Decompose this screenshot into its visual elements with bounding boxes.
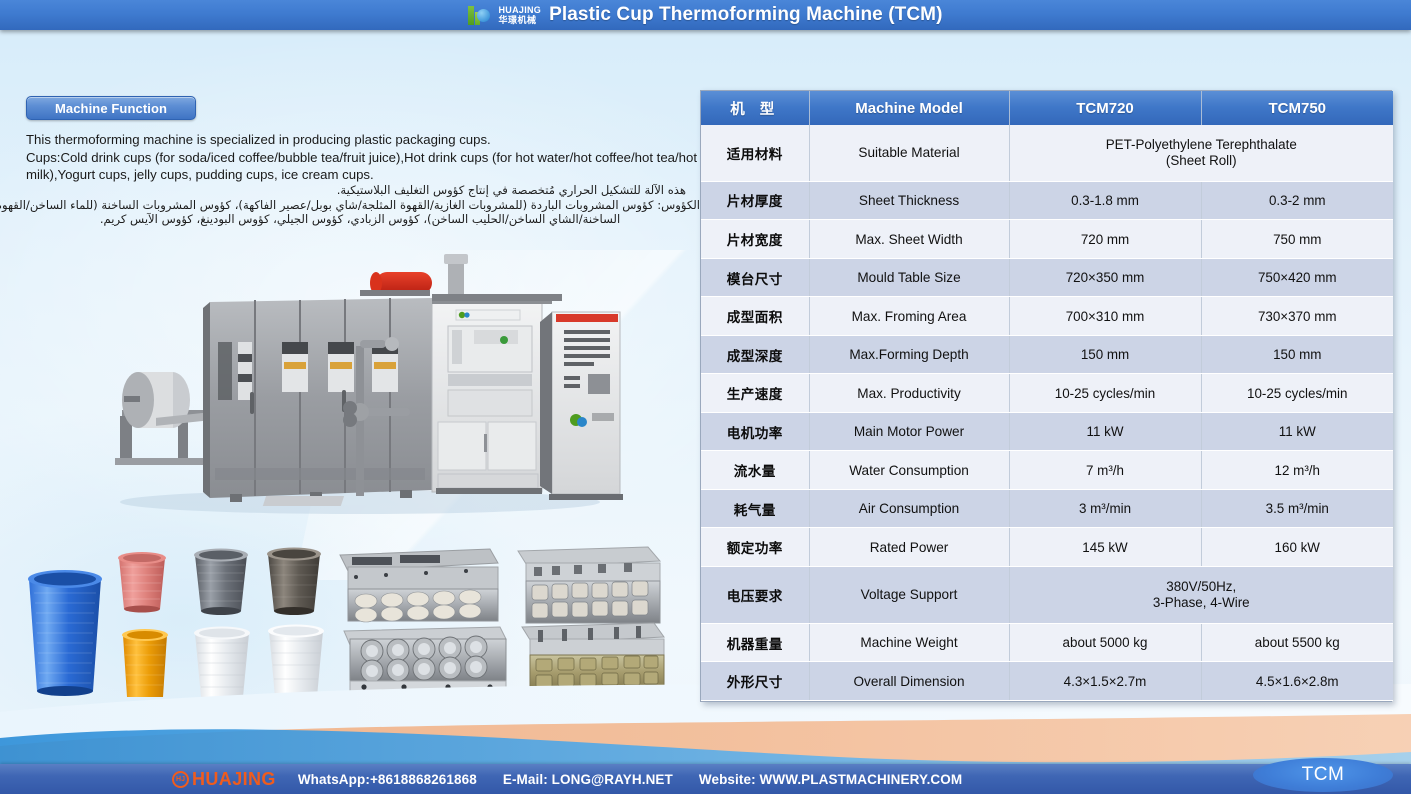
row-label-en: Max.Forming Depth [809, 335, 1009, 374]
header-content: HUAJING 华璟机械 Plastic Cup Thermoforming M… [468, 4, 942, 26]
cup-white-a [194, 627, 250, 698]
row-label-cn: 模台尺寸 [701, 258, 809, 297]
row-value-tcm720: about 5000 kg [1009, 623, 1201, 662]
specification-table: 机 型 Machine Model TCM720 TCM750 适用材料 Sui… [701, 91, 1393, 701]
row-value-tcm750: 4.5×1.6×2.8m [1201, 662, 1393, 701]
footer-brand-name: HUAJING [192, 769, 276, 790]
description-english: This thermoforming machine is specialize… [26, 131, 698, 184]
row-label-en: Voltage Support [809, 566, 1009, 623]
row-label-en: Overall Dimension [809, 662, 1009, 701]
description-arabic-line-3: الساخنة/الشاي الساخن/الحليب الساخن)، كؤو… [20, 212, 700, 227]
tcm-tag-label: TCM [1302, 764, 1345, 786]
brand-name-cn: 华璟机械 [498, 16, 541, 25]
row-label-en: Rated Power [809, 528, 1009, 567]
row-value-merged: PET-Polyethylene Terephthalate (Sheet Ro… [1009, 125, 1393, 181]
row-label-cn: 流水量 [701, 451, 809, 490]
row-label-en: Air Consumption [809, 489, 1009, 528]
row-label-cn: 成型面积 [701, 297, 809, 336]
row-value-tcm720: 720 mm [1009, 220, 1201, 259]
tcm-model-tag: TCM [1253, 758, 1393, 792]
row-value-tcm720: 0.3-1.8 mm [1009, 181, 1201, 220]
table-row: 流水量 Water Consumption 7 m³/h 12 m³/h [701, 451, 1393, 490]
header-model-cn: 机 型 [701, 91, 809, 125]
mould-top-right [518, 547, 660, 623]
row-label-cn: 片材宽度 [701, 220, 809, 259]
description-arabic-line-2: الكؤوس: كؤوس المشروبات الباردة (للمشروبا… [20, 198, 700, 213]
row-label-cn: 生产速度 [701, 374, 809, 413]
row-value-tcm720: 145 kW [1009, 528, 1201, 567]
row-value-merged: 380V/50Hz, 3-Phase, 4-Wire [1009, 566, 1393, 623]
mould-bottom-left [344, 627, 506, 693]
table-row: 机器重量 Machine Weight about 5000 kg about … [701, 623, 1393, 662]
page-header: HUAJING 华璟机械 Plastic Cup Thermoforming M… [0, 0, 1411, 30]
footer-contact-list: WhatsApp:+8618868261868 E-Mail: LONG@RAY… [298, 772, 962, 787]
slide-root: HUAJING 华璟机械 Plastic Cup Thermoforming M… [0, 0, 1411, 794]
row-label-cn: 额定功率 [701, 528, 809, 567]
row-label-cn: 外形尺寸 [701, 662, 809, 701]
row-label-cn: 片材厚度 [701, 181, 809, 220]
control-cabinet [540, 312, 623, 500]
mould-product-photos [330, 545, 675, 700]
table-body: 适用材料 Suitable Material PET-Polyethylene … [701, 125, 1393, 701]
row-value-tcm750: 3.5 m³/min [1201, 489, 1393, 528]
cup-white-b [268, 625, 324, 698]
machine-function-badge: Machine Function [26, 96, 196, 120]
row-value-tcm720: 720×350 mm [1009, 258, 1201, 297]
header-machine-model: Machine Model [809, 91, 1009, 125]
row-label-en: Machine Weight [809, 623, 1009, 662]
cup-gray [194, 549, 248, 616]
row-value-tcm750: 11 kW [1201, 412, 1393, 451]
row-value-tcm720: 700×310 mm [1009, 297, 1201, 336]
row-value-tcm750: about 5500 kg [1201, 623, 1393, 662]
cup-product-photos [15, 545, 355, 700]
table-row: 电压要求 Voltage Support 380V/50Hz, 3-Phase,… [701, 566, 1393, 623]
huajing-circle-icon: HJ [172, 771, 189, 788]
machine-illustration [60, 250, 680, 540]
cup-blue-large [28, 570, 102, 696]
main-cabinet [203, 298, 432, 502]
mould-bottom-right [522, 623, 664, 689]
table-row: 适用材料 Suitable Material PET-Polyethylene … [701, 125, 1393, 181]
row-label-en: Max. Froming Area [809, 297, 1009, 336]
table-row: 电机功率 Main Motor Power 11 kW 11 kW [701, 412, 1393, 451]
footer-email[interactable]: E-Mail: LONG@RAYH.NET [503, 772, 673, 787]
footer-website[interactable]: Website: WWW.PLASTMACHINERY.COM [699, 772, 962, 787]
machine-function-label: Machine Function [55, 101, 167, 116]
row-value-tcm750: 750×420 mm [1201, 258, 1393, 297]
row-value-tcm720: 3 m³/min [1009, 489, 1201, 528]
footer-whatsapp[interactable]: WhatsApp:+8618868261868 [298, 772, 477, 787]
row-value-tcm720: 7 m³/h [1009, 451, 1201, 490]
row-label-en: Main Motor Power [809, 412, 1009, 451]
page-footer: HJ HUAJING WhatsApp:+8618868261868 E-Mai… [0, 764, 1411, 794]
table-row: 模台尺寸 Mould Table Size 720×350 mm 750×420… [701, 258, 1393, 297]
row-value-tcm750: 12 m³/h [1201, 451, 1393, 490]
row-value-tcm720: 150 mm [1009, 335, 1201, 374]
row-label-cn: 适用材料 [701, 125, 809, 181]
row-value-tcm750: 730×370 mm [1201, 297, 1393, 336]
table-row: 片材厚度 Sheet Thickness 0.3-1.8 mm 0.3-2 mm [701, 181, 1393, 220]
table-row: 耗气量 Air Consumption 3 m³/min 3.5 m³/min [701, 489, 1393, 528]
footer-brand: HJ HUAJING [172, 769, 276, 790]
row-value-tcm720: 4.3×1.5×2.7m [1009, 662, 1201, 701]
row-label-en: Max. Sheet Width [809, 220, 1009, 259]
table-row: 外形尺寸 Overall Dimension 4.3×1.5×2.7m 4.5×… [701, 662, 1393, 701]
row-value-tcm750: 0.3-2 mm [1201, 181, 1393, 220]
row-label-cn: 电压要求 [701, 566, 809, 623]
row-label-en: Sheet Thickness [809, 181, 1009, 220]
table-row: 成型深度 Max.Forming Depth 150 mm 150 mm [701, 335, 1393, 374]
row-value-tcm720: 10-25 cycles/min [1009, 374, 1201, 413]
row-label-cn: 电机功率 [701, 412, 809, 451]
row-value-tcm750: 10-25 cycles/min [1201, 374, 1393, 413]
page-title: Plastic Cup Thermoforming Machine (TCM) [549, 4, 942, 26]
row-label-en: Water Consumption [809, 451, 1009, 490]
header-tcm720: TCM720 [1009, 91, 1201, 125]
row-label-en: Mould Table Size [809, 258, 1009, 297]
row-label-cn: 耗气量 [701, 489, 809, 528]
row-value-tcm750: 150 mm [1201, 335, 1393, 374]
row-value-tcm750: 160 kW [1201, 528, 1393, 567]
table-row: 成型面积 Max. Froming Area 700×310 mm 730×37… [701, 297, 1393, 336]
header-tcm750: TCM750 [1201, 91, 1393, 125]
table-row: 额定功率 Rated Power 145 kW 160 kW [701, 528, 1393, 567]
mould-top-left [340, 549, 498, 622]
row-label-en: Suitable Material [809, 125, 1009, 181]
cup-pink [118, 552, 166, 613]
row-label-en: Max. Productivity [809, 374, 1009, 413]
table-header-row: 机 型 Machine Model TCM720 TCM750 [701, 91, 1393, 125]
row-value-tcm720: 11 kW [1009, 412, 1201, 451]
cup-brown [267, 548, 321, 616]
row-value-tcm750: 750 mm [1201, 220, 1393, 259]
row-label-cn: 机器重量 [701, 623, 809, 662]
huajing-logo-icon [468, 5, 490, 25]
description-arabic-line-1: هذه الآلة للتشكيل الحراري مُتخصصة في إنت… [20, 183, 700, 198]
table-row: 生产速度 Max. Productivity 10-25 cycles/min … [701, 374, 1393, 413]
brand-lockup: HUAJING 华璟机械 [498, 6, 541, 25]
cup-orange [122, 629, 168, 697]
table-row: 片材宽度 Max. Sheet Width 720 mm 750 mm [701, 220, 1393, 259]
specification-table-container: 机 型 Machine Model TCM720 TCM750 适用材料 Sui… [700, 90, 1392, 702]
row-label-cn: 成型深度 [701, 335, 809, 374]
brand-name-en: HUAJING [498, 6, 541, 15]
description-arabic: هذه الآلة للتشكيل الحراري مُتخصصة في إنت… [20, 183, 700, 227]
